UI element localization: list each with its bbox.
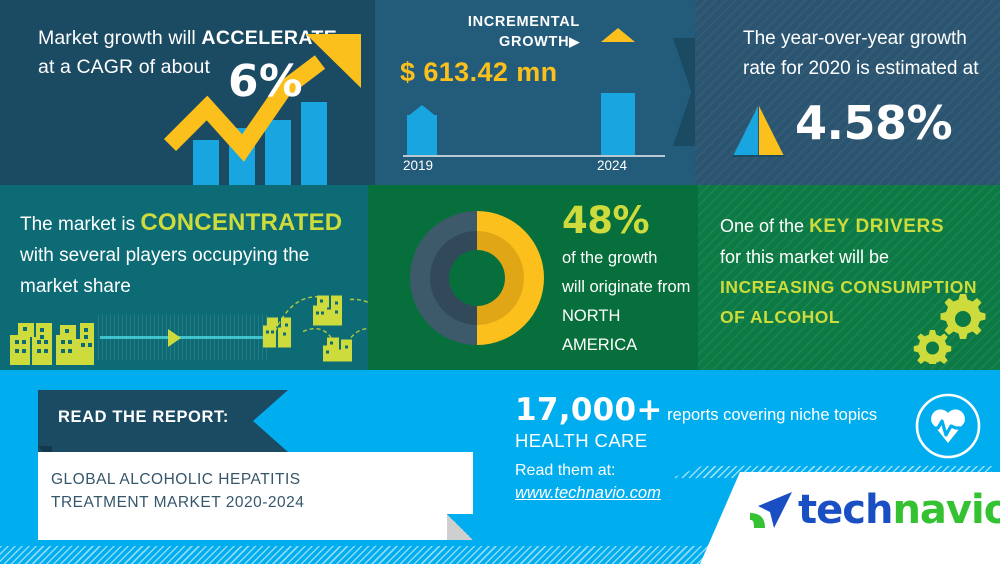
technavio-link[interactable]: www.technavio.com <box>515 484 661 503</box>
conc-highlight: CONCENTRATED <box>140 209 342 236</box>
bar-2024 <box>601 28 635 155</box>
logo-text-navio: navio <box>892 487 1000 533</box>
gears-icon <box>908 292 986 364</box>
read-the-report-label: READ THE REPORT: <box>58 408 229 427</box>
report-title-line2: TREATMENT MARKET 2020-2024 <box>51 494 304 511</box>
incremental-label-line2: GROWTH <box>499 34 569 50</box>
region-share-value: 48% <box>562 199 698 242</box>
heart-pulse-icon <box>912 390 984 462</box>
growth-triangle-icon <box>733 106 785 156</box>
conc-text-1: The market is <box>20 214 135 235</box>
panel-divider-chevron-icon <box>673 38 695 146</box>
kd-highlight-1: KEY DRIVERS <box>809 216 944 237</box>
cagr-value: 6% <box>227 56 303 107</box>
incremental-growth-label: INCREMENTAL GROWTH▶ <box>400 13 580 52</box>
incremental-growth-value: $ 613.42 mn <box>400 57 558 88</box>
report-title-line1: GLOBAL ALCOHOLIC HEPATITIS <box>51 471 301 488</box>
region-text-3: NORTH <box>562 307 620 325</box>
middle-row: The market is CONCENTRATED with several … <box>0 185 1000 370</box>
yoy-growth-panel: The year-over-year growth rate for 2020 … <box>695 0 1000 185</box>
play-arrow-icon: ▶ <box>569 34 580 49</box>
logo-text-tech: tech <box>798 487 892 533</box>
region-donut-chart <box>406 207 548 349</box>
report-card[interactable]: GLOBAL ALCOHOLIC HEPATITIS TREATMENT MAR… <box>38 452 473 540</box>
bar-2019 <box>407 105 437 155</box>
incremental-growth-panel: INCREMENTAL GROWTH▶ $ 613.42 mn 2019 202… <box>375 0 695 185</box>
kd-text-2: for this market will be <box>720 247 889 267</box>
region-text-4: AMERICA <box>562 336 637 354</box>
kd-text-1: One of the <box>720 216 804 236</box>
technavio-arrow-logo-icon <box>748 489 794 531</box>
yoy-value: 4.58% <box>795 96 952 150</box>
chart-axis <box>403 155 665 157</box>
conc-text-2: with several players occupying the <box>20 245 309 266</box>
bar-label-2019: 2019 <box>403 158 433 173</box>
card-fold-corner-icon <box>447 514 473 540</box>
yoy-caption: The year-over-year growth rate for 2020 … <box>743 24 983 84</box>
report-count: 17,000+ <box>515 392 663 428</box>
footer-bar: READ THE REPORT: GLOBAL ALCOHOLIC HEPATI… <box>0 370 1000 564</box>
top-row: Market growth will ACCELERATE at a CAGR … <box>0 0 1000 185</box>
infographic-root: Market growth will ACCELERATE at a CAGR … <box>0 0 1000 564</box>
conc-text-3: market share <box>20 276 131 297</box>
connected-cities-icon <box>255 281 368 366</box>
region-text-1: of the growth <box>562 249 657 267</box>
region-caption: of the growth will originate from NORTH … <box>562 244 698 360</box>
yoy-text-2: rate for 2020 is estimated at <box>743 58 979 79</box>
report-title: GLOBAL ALCOHOLIC HEPATITIS TREATMENT MAR… <box>51 468 451 514</box>
yoy-text-1: The year-over-year growth <box>743 28 967 49</box>
report-count-caption: reports covering niche topics <box>667 406 877 424</box>
key-drivers-panel: One of the KEY DRIVERS for this market w… <box>698 185 1000 370</box>
incremental-label-line1: INCREMENTAL <box>468 14 580 30</box>
kd-highlight-3: OF ALCOHOL <box>720 307 840 327</box>
bottom-hatch-texture <box>0 546 1000 564</box>
bar-label-2024: 2024 <box>597 158 627 173</box>
cagr-panel: Market growth will ACCELERATE at a CAGR … <box>0 0 375 185</box>
market-concentration-panel: The market is CONCENTRATED with several … <box>0 185 368 370</box>
report-category: HEALTH CARE <box>515 430 895 452</box>
stats-headline: 17,000+ reports covering niche topics <box>515 392 895 428</box>
region-share-panel: 48% of the growth will originate from NO… <box>368 185 698 370</box>
technavio-logo[interactable]: tech navio <box>748 487 1000 533</box>
region-text-2: will originate from <box>562 278 690 296</box>
